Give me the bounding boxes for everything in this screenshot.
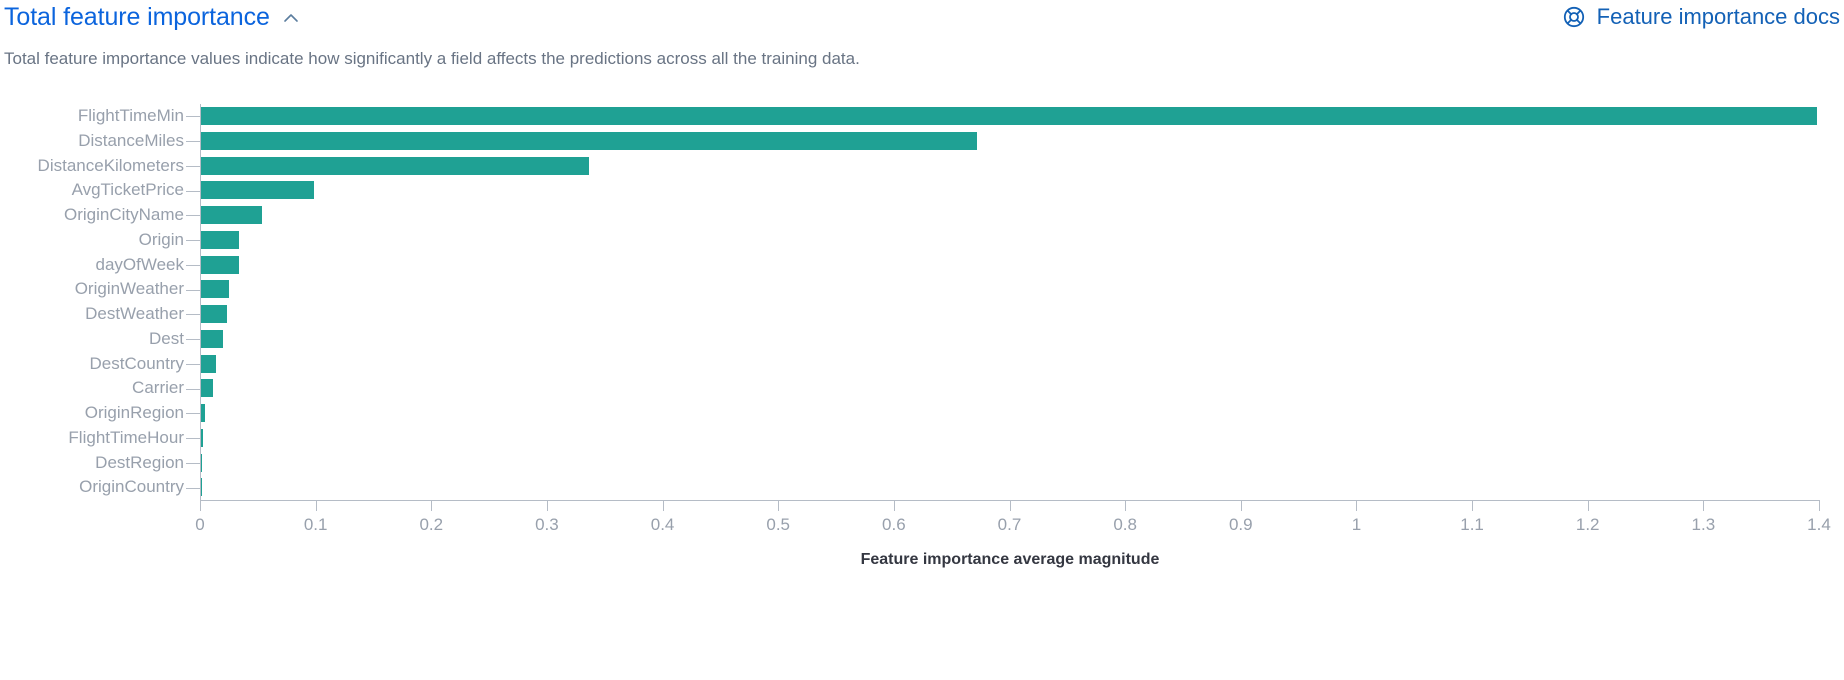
x-axis-tick bbox=[1241, 501, 1242, 511]
y-axis-tick bbox=[186, 339, 200, 340]
x-axis-tick bbox=[1703, 501, 1704, 511]
y-axis-label: DestCountry bbox=[0, 355, 184, 373]
y-axis-label: OriginCityName bbox=[0, 206, 184, 224]
y-axis-tick bbox=[186, 389, 200, 390]
x-axis-tick bbox=[1588, 501, 1589, 511]
bar-row[interactable] bbox=[200, 401, 1819, 426]
y-axis-label: Origin bbox=[0, 231, 184, 249]
x-axis-tick-label: 0 bbox=[195, 515, 204, 535]
y-axis-labels: FlightTimeMinDistanceMilesDistanceKilome… bbox=[0, 96, 184, 516]
x-axis-tick-label: 0.4 bbox=[651, 515, 675, 535]
bar[interactable] bbox=[200, 206, 262, 224]
x-axis-tick bbox=[778, 501, 779, 511]
x-axis-tick bbox=[1125, 501, 1126, 511]
bar[interactable] bbox=[200, 157, 589, 175]
x-axis-tick-label: 0.2 bbox=[419, 515, 443, 535]
plot-area bbox=[200, 104, 1819, 500]
y-axis-label: OriginRegion bbox=[0, 404, 184, 422]
bar-row[interactable] bbox=[200, 228, 1819, 253]
y-axis-label: OriginWeather bbox=[0, 280, 184, 298]
x-axis-tick bbox=[547, 501, 548, 511]
feature-importance-chart: FlightTimeMinDistanceMilesDistanceKilome… bbox=[0, 96, 1844, 680]
bar-row[interactable] bbox=[200, 253, 1819, 278]
x-axis-tick bbox=[316, 501, 317, 511]
y-axis-tick bbox=[186, 290, 200, 291]
chevron-up-icon[interactable] bbox=[281, 8, 301, 28]
bar[interactable] bbox=[200, 280, 229, 298]
bar[interactable] bbox=[200, 330, 223, 348]
y-axis-label: DistanceMiles bbox=[0, 132, 184, 150]
y-axis-label: FlightTimeMin bbox=[0, 107, 184, 125]
y-axis-tick bbox=[186, 265, 200, 266]
y-axis-tick bbox=[186, 438, 200, 439]
bar-row[interactable] bbox=[200, 376, 1819, 401]
feature-importance-docs-link[interactable]: Feature importance docs bbox=[1562, 4, 1840, 30]
y-axis-tick bbox=[186, 413, 200, 414]
x-axis-tick-label: 0.8 bbox=[1113, 515, 1137, 535]
y-axis-tick bbox=[186, 215, 200, 216]
x-axis-tick bbox=[1819, 501, 1820, 511]
bar-row[interactable] bbox=[200, 154, 1819, 179]
bar-row[interactable] bbox=[200, 277, 1819, 302]
page-title: Total feature importance bbox=[4, 2, 270, 32]
bar[interactable] bbox=[200, 256, 239, 274]
y-axis-tick bbox=[186, 488, 200, 489]
x-axis-tick-label: 1 bbox=[1352, 515, 1361, 535]
bar-row[interactable] bbox=[200, 352, 1819, 377]
bar-row[interactable] bbox=[200, 203, 1819, 228]
x-axis-tick bbox=[1010, 501, 1011, 511]
bar-row[interactable] bbox=[200, 426, 1819, 451]
x-axis-tick-label: 0.3 bbox=[535, 515, 559, 535]
x-axis-tick-label: 1.1 bbox=[1460, 515, 1484, 535]
x-axis-tick-label: 1.2 bbox=[1576, 515, 1600, 535]
x-axis-tick-label: 1.3 bbox=[1692, 515, 1716, 535]
y-axis-label: DistanceKilometers bbox=[0, 157, 184, 175]
y-axis-label: Dest bbox=[0, 330, 184, 348]
y-axis-label: AvgTicketPrice bbox=[0, 181, 184, 199]
x-axis-tick bbox=[663, 501, 664, 511]
bar-row[interactable] bbox=[200, 451, 1819, 476]
y-axis-label: FlightTimeHour bbox=[0, 429, 184, 447]
panel-title-toggle[interactable]: Total feature importance bbox=[4, 2, 301, 32]
x-axis-tick-label: 0.6 bbox=[882, 515, 906, 535]
x-axis-tick bbox=[1472, 501, 1473, 511]
bar[interactable] bbox=[200, 231, 239, 249]
y-axis-label: Carrier bbox=[0, 379, 184, 397]
bar-row[interactable] bbox=[200, 475, 1819, 500]
x-axis-tick-label: 0.9 bbox=[1229, 515, 1253, 535]
feature-importance-panel: Total feature importance Feature importa… bbox=[0, 0, 1844, 680]
bar-row[interactable] bbox=[200, 104, 1819, 129]
y-axis-label: DestWeather bbox=[0, 305, 184, 323]
x-axis-tick-label: 0.5 bbox=[766, 515, 790, 535]
bar[interactable] bbox=[200, 181, 314, 199]
y-axis-label: dayOfWeek bbox=[0, 256, 184, 274]
x-axis-tick bbox=[1356, 501, 1357, 511]
x-axis-tick-label: 0.7 bbox=[998, 515, 1022, 535]
x-axis-tick-label: 0.1 bbox=[304, 515, 328, 535]
y-axis-tick bbox=[186, 141, 200, 142]
x-axis-tick bbox=[200, 501, 201, 511]
y-axis-tick bbox=[186, 166, 200, 167]
y-axis-tick bbox=[186, 116, 200, 117]
y-axis-tick bbox=[186, 463, 200, 464]
y-axis-label: OriginCountry bbox=[0, 478, 184, 496]
bar[interactable] bbox=[200, 132, 977, 150]
bar-row[interactable] bbox=[200, 178, 1819, 203]
bar[interactable] bbox=[200, 305, 227, 323]
x-axis-title: Feature importance average magnitude bbox=[200, 551, 1820, 569]
x-axis-tick bbox=[894, 501, 895, 511]
y-axis-label: DestRegion bbox=[0, 454, 184, 472]
bar-row[interactable] bbox=[200, 129, 1819, 154]
y-axis-tick bbox=[186, 364, 200, 365]
bar-row[interactable] bbox=[200, 327, 1819, 352]
bar-rows bbox=[200, 104, 1819, 500]
y-axis-tick bbox=[186, 191, 200, 192]
y-axis-tick bbox=[186, 240, 200, 241]
x-axis-tick-label: 1.4 bbox=[1807, 515, 1831, 535]
x-axis-tick bbox=[431, 501, 432, 511]
panel-description: Total feature importance values indicate… bbox=[4, 47, 860, 71]
bar[interactable] bbox=[200, 379, 213, 397]
bar[interactable] bbox=[200, 355, 216, 373]
bar-row[interactable] bbox=[200, 302, 1819, 327]
bar[interactable] bbox=[200, 107, 1817, 125]
y-axis-tick bbox=[186, 314, 200, 315]
panel-header: Total feature importance Feature importa… bbox=[0, 0, 1844, 40]
docs-link-label: Feature importance docs bbox=[1597, 4, 1840, 30]
y-axis-line bbox=[200, 104, 201, 500]
help-buoy-icon bbox=[1562, 5, 1586, 29]
